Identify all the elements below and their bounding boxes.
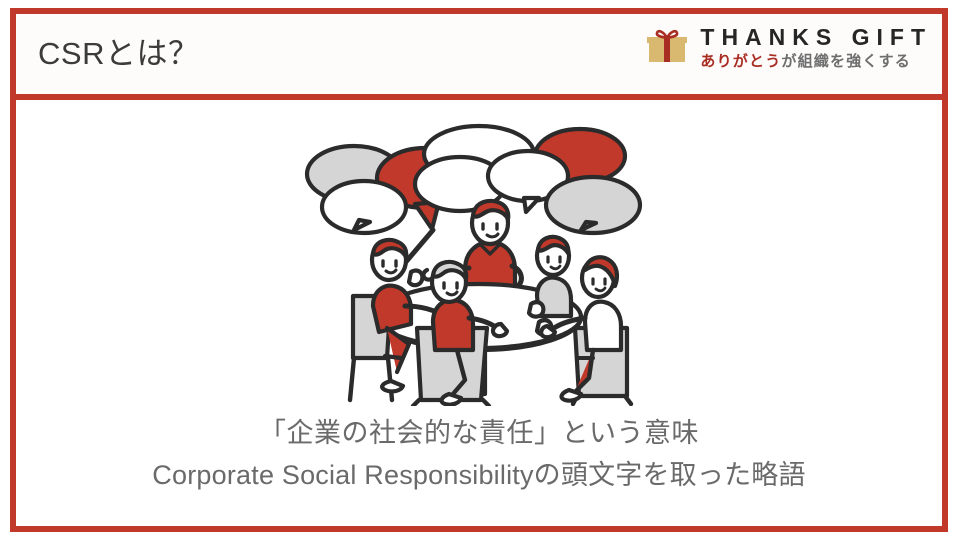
meeting-discussion-illustration [293,110,665,406]
caption-block: 「企業の社会的な責任」という意味 Corporate Social Respon… [16,412,942,496]
slide-body: 「企業の社会的な責任」という意味 Corporate Social Respon… [16,100,942,526]
brand-logo: THANKS GIFT ありがとうが組織を強くする [644,24,932,70]
logo-brand-name: THANKS GIFT [700,25,932,50]
caption-line-1: 「企業の社会的な責任」という意味 [16,412,942,454]
page-title: CSRとは？ [38,32,199,76]
caption-line-2: Corporate Social Responsibilityの頭文字を取った略… [16,454,942,496]
illustration-container [16,108,942,408]
logo-tagline-accent: ありがとう [700,53,781,70]
logo-tagline: ありがとうが組織を強くする [700,53,932,70]
frame-border-right [942,8,948,532]
slide-canvas: CSRとは？ THANKS GIFT ありがとうが組織を強くする [10,8,948,532]
slide-header: CSRとは？ THANKS GIFT ありがとうが組織を強くする [16,14,942,94]
logo-tagline-rest: が組織を強くする [781,53,911,70]
frame-border-bottom [10,526,948,532]
logo-text-block: THANKS GIFT ありがとうが組織を強くする [700,25,932,70]
gift-box-icon [644,24,690,70]
